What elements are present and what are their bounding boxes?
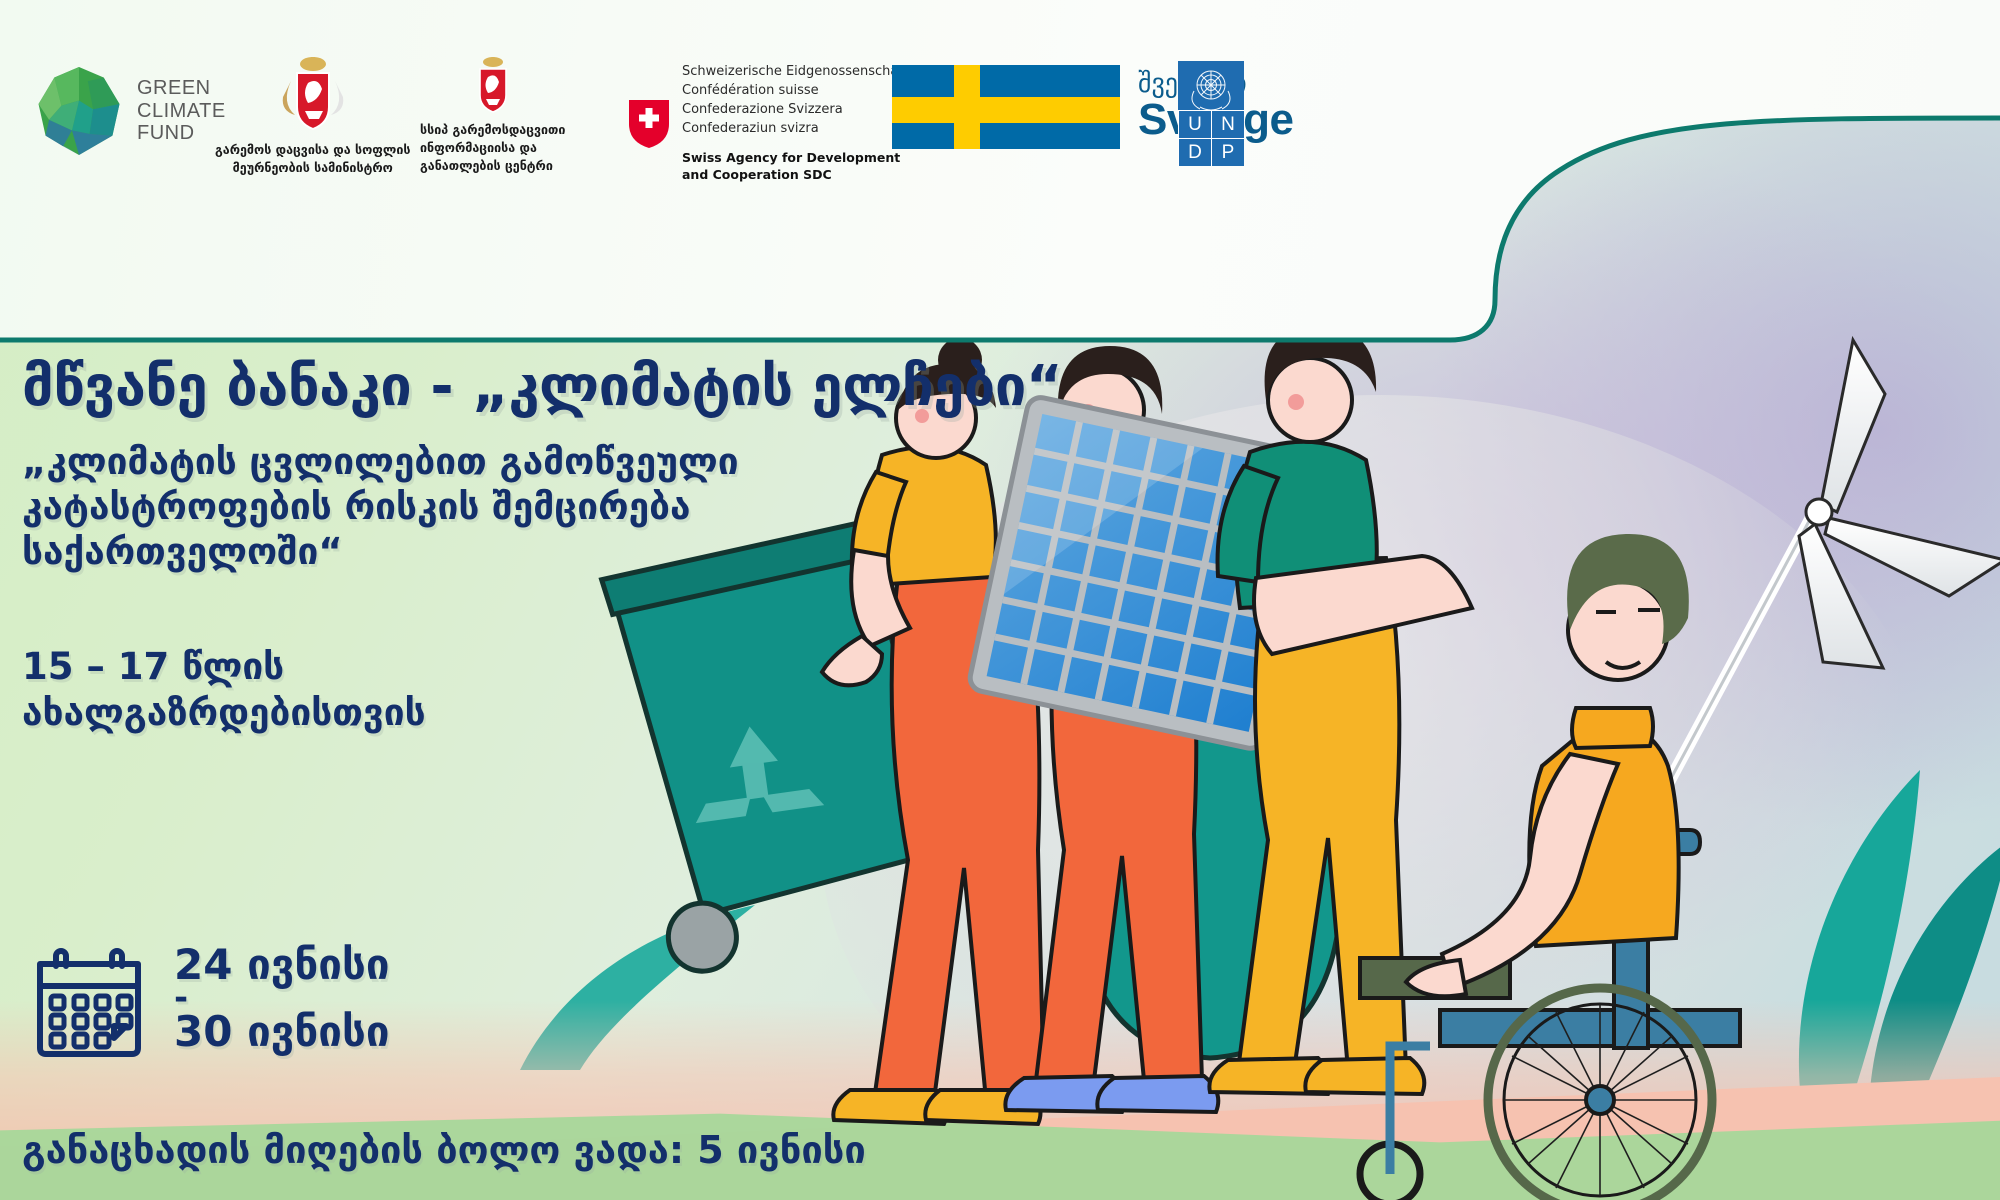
undp-letter-p: P: [1211, 138, 1244, 166]
undp-letter-d: D: [1178, 138, 1211, 166]
application-deadline: განაცხადის მიღების ბოლო ვადა: 5 ივნისი: [22, 1128, 866, 1172]
sweden-flag-icon: [892, 65, 1120, 149]
logo-undp: U N D P: [1178, 61, 1244, 166]
swiss-confederation-names: Schweizerische Eidgenossenschaft Confédé…: [682, 63, 908, 138]
event-start-date: 24 ივნისი: [174, 944, 390, 987]
event-date-block: 24 ივნისი - 30 ივნისი: [30, 940, 390, 1058]
info-center-label: სსიპ გარემოსდაცვითი ინფორმაციისა და განა…: [420, 121, 565, 175]
logo-environmental-info-center: სსიპ გარემოსდაცვითი ინფორმაციისა და განა…: [420, 55, 565, 175]
page-title: მწვანე ბანაკი - „კლიმატის ელჩები“: [22, 358, 1042, 417]
event-dates: 24 ივნისი - 30 ივნისი: [174, 944, 390, 1053]
united-nations-emblem-icon: [1178, 61, 1244, 113]
georgia-small-crest-icon: [470, 55, 516, 115]
undp-letter-n: N: [1211, 110, 1244, 138]
undp-letters: U N D P: [1178, 110, 1244, 166]
calendar-icon: [30, 940, 148, 1058]
project-subtitle: „კლიმატის ცვლილებით გამოწვეული კატასტროფ…: [22, 439, 1042, 574]
main-copy: მწვანე ბანაკი - „კლიმატის ელჩები“ „კლიმა…: [22, 358, 1042, 736]
logo-green-climate-fund: GREEN CLIMATE FUND: [35, 65, 226, 157]
ministry-label: გარემოს დაცვისა და სოფლის მეურნეობის სამ…: [215, 141, 410, 177]
person-in-wheelchair: [1360, 534, 1740, 1200]
swiss-sdc-subtitle: Swiss Agency for Development and Coopera…: [682, 150, 908, 184]
green-climate-fund-label: GREEN CLIMATE FUND: [137, 77, 226, 144]
logo-strip: GREEN CLIMATE FUND გარემოს დაცვისა და სო…: [0, 55, 1720, 175]
logo-swiss-cooperation: Schweizerische Eidgenossenschaft Confédé…: [628, 63, 908, 184]
event-end-date: 30 ივნისი: [174, 1011, 390, 1054]
georgia-coat-of-arms-icon: [275, 55, 351, 135]
logo-ministry-of-environment: გარემოს დაცვისა და სოფლის მეურნეობის სამ…: [215, 55, 410, 177]
swiss-shield-icon: [628, 99, 670, 149]
age-eligibility: 15 – 17 წლის ახალგაზრდებისთვის: [22, 644, 1042, 736]
undp-letter-u: U: [1178, 110, 1211, 138]
green-climate-fund-icon: [35, 65, 123, 157]
poster-canvas: GREEN CLIMATE FUND გარემოს დაცვისა და სო…: [0, 0, 2000, 1200]
